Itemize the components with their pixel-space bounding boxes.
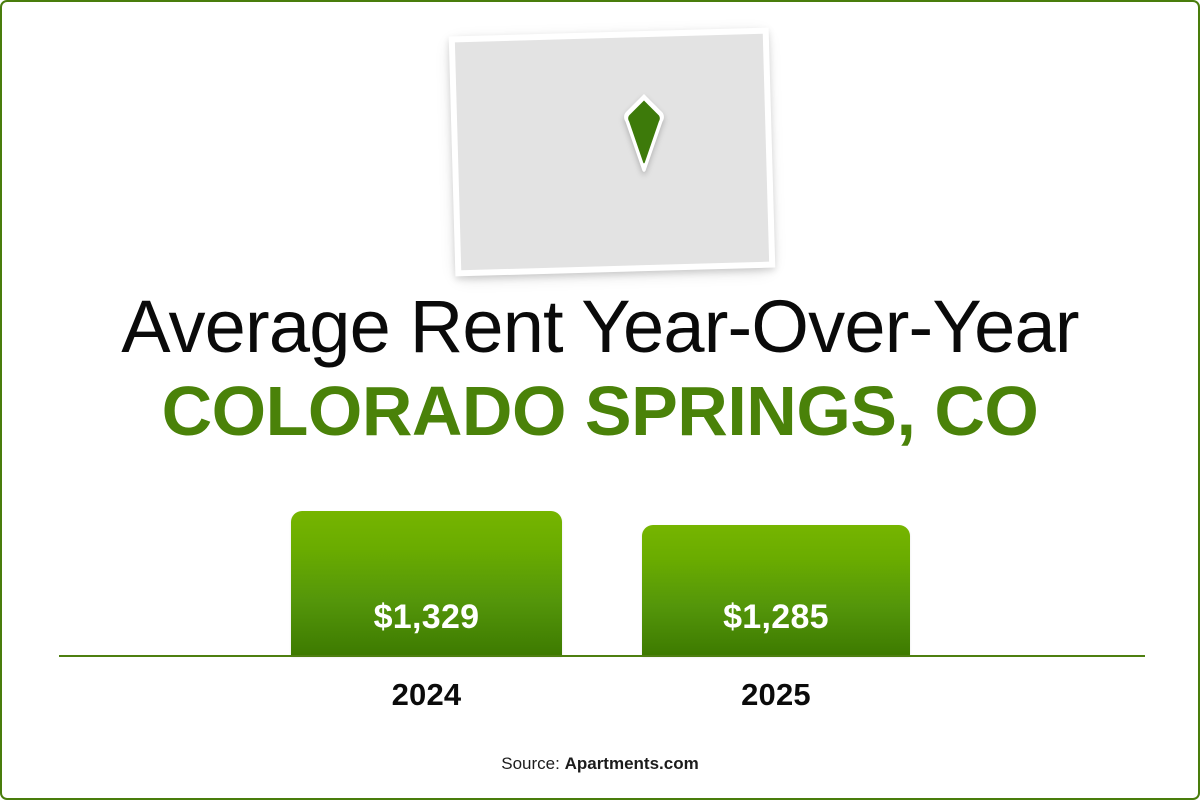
state-map-graphic bbox=[442, 24, 782, 279]
source-name-label: Apartments.com bbox=[565, 754, 699, 773]
bar-2024: $1,329 bbox=[291, 511, 562, 656]
chart-plot-area: $1,329 $1,285 2024 2025 bbox=[59, 422, 1145, 656]
map-fill bbox=[455, 34, 769, 271]
infographic-canvas: Average Rent Year-Over-Year COLORADO SPR… bbox=[0, 0, 1200, 800]
chart-axis-line bbox=[59, 655, 1145, 657]
bar-2025: $1,285 bbox=[642, 525, 910, 656]
bar-value-2024: $1,329 bbox=[291, 598, 562, 637]
source-prefix-label: Source: bbox=[501, 754, 564, 773]
x-axis-label-2024: 2024 bbox=[291, 677, 562, 713]
page-title: Average Rent Year-Over-Year bbox=[2, 290, 1198, 364]
x-axis-label-2025: 2025 bbox=[642, 677, 910, 713]
bar-value-2025: $1,285 bbox=[642, 598, 910, 637]
map-pin-marker-icon bbox=[622, 92, 666, 174]
bar-chart: $1,329 $1,285 2024 2025 bbox=[59, 422, 1145, 762]
source-attribution: Source: Apartments.com bbox=[2, 754, 1198, 774]
colorado-state-outline-icon bbox=[449, 28, 776, 277]
